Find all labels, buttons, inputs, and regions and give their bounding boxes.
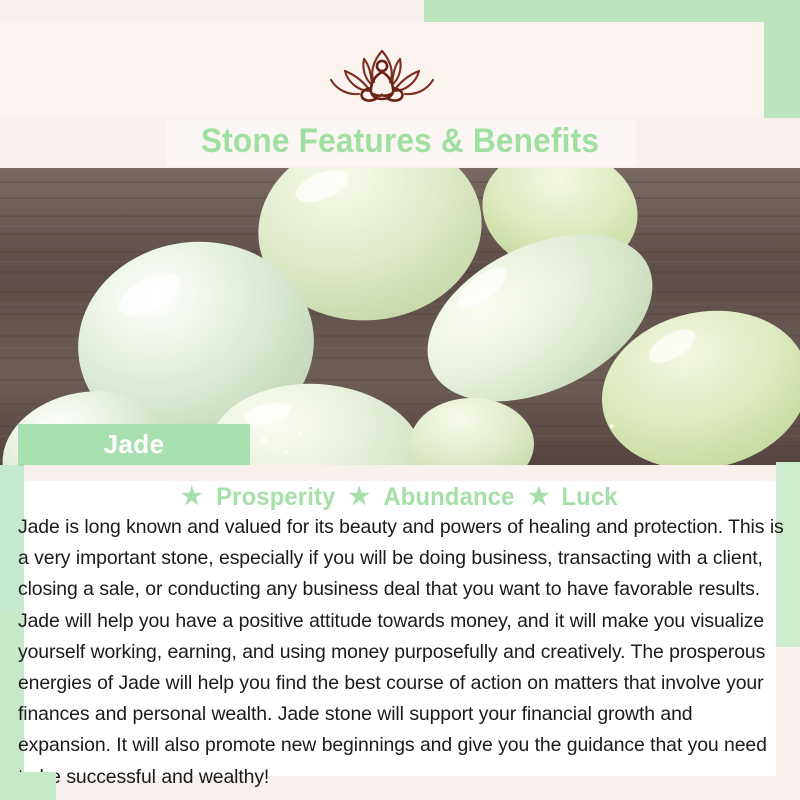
poster: BUDDHA STONES Stone Features & Benefits <box>0 0 800 800</box>
star-icon: ★ <box>181 485 203 509</box>
stone-photo <box>0 168 800 465</box>
benefit-abundance: Abundance <box>384 483 515 512</box>
lotus-meditation-figure-icon <box>0 46 764 113</box>
frame-accent-bottom-left <box>0 772 56 800</box>
star-icon: ★ <box>348 485 370 509</box>
header: BUDDHA STONES <box>0 22 764 118</box>
benefit-prosperity: Prosperity <box>216 483 335 512</box>
benefit-luck: Luck <box>561 483 617 512</box>
description-block: Jade is long known and valued for its be… <box>18 512 786 793</box>
content-gap <box>24 465 776 481</box>
star-icon: ★ <box>528 485 550 509</box>
stone-label: Jade <box>18 429 250 460</box>
page-title: Stone Features & Benefits <box>28 122 772 161</box>
frame-accent-top <box>424 0 800 22</box>
description-text: Jade is long known and valued for its be… <box>18 512 786 793</box>
benefits-row: ★ Prosperity ★ Abundance ★ Luck <box>24 481 776 513</box>
